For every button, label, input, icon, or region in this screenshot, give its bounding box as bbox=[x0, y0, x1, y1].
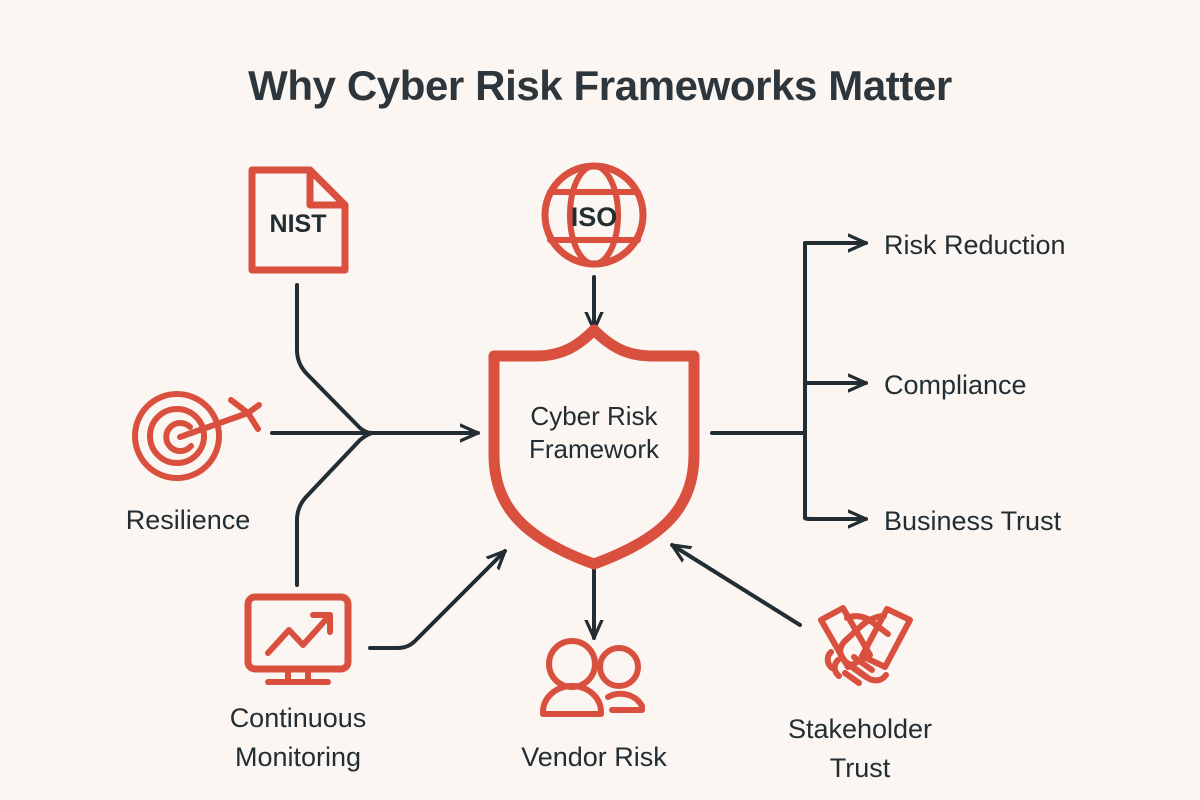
shield-label-line1: Cyber Risk bbox=[530, 401, 658, 431]
globe-icon-text: ISO bbox=[571, 202, 618, 232]
diagram-svg: Why Cyber Risk Frameworks Matter bbox=[0, 0, 1200, 800]
connector-monitoring-stub bbox=[297, 433, 372, 585]
label-stakeholder-trust-line2: Trust bbox=[830, 753, 891, 783]
page-title: Why Cyber Risk Frameworks Matter bbox=[248, 62, 952, 109]
label-stakeholder-trust-line1: Stakeholder bbox=[788, 714, 932, 744]
connector-to-business-trust bbox=[805, 518, 866, 519]
document-icon-text: NIST bbox=[270, 210, 327, 238]
label-business-trust: Business Trust bbox=[884, 506, 1062, 536]
label-risk-reduction: Risk Reduction bbox=[884, 230, 1066, 260]
connector-stakeholder-trust bbox=[672, 545, 800, 625]
label-vendor-risk: Vendor Risk bbox=[521, 742, 667, 772]
connector-to-risk-reduction bbox=[805, 243, 866, 245]
label-resilience: Resilience bbox=[126, 505, 251, 535]
label-compliance: Compliance bbox=[884, 370, 1027, 400]
monitor-chart-icon bbox=[248, 597, 348, 682]
label-continuous-monitoring-line1: Continuous bbox=[230, 703, 367, 733]
shield-label-line2: Framework bbox=[529, 434, 660, 464]
connector-group-right bbox=[712, 243, 866, 519]
connector-continuous-monitoring bbox=[370, 551, 505, 648]
target-icon bbox=[135, 394, 259, 478]
diagram-canvas: Why Cyber Risk Frameworks Matter bbox=[0, 0, 1200, 800]
connector-nist bbox=[297, 285, 372, 433]
label-continuous-monitoring-line2: Monitoring bbox=[235, 742, 361, 772]
handshake-icon bbox=[821, 608, 910, 683]
people-icon bbox=[543, 641, 642, 714]
connector-group-left bbox=[272, 285, 478, 585]
